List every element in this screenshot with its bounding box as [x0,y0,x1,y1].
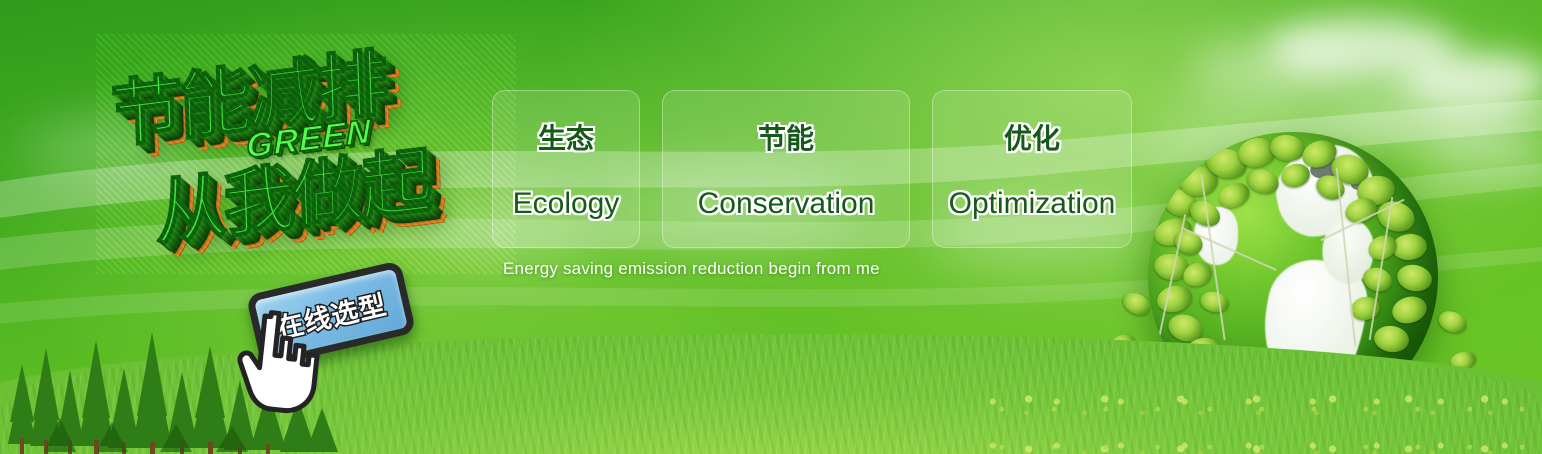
feature-card-ecology[interactable]: 生态 Ecology [492,90,640,248]
cloud-icon [1190,42,1350,96]
tagline-text: Energy saving emission reduction begin f… [503,259,880,279]
leaf-litter [980,384,1542,454]
green-energy-banner: 节能减排 GREEN 从我做起 生态 Ecology 节能 Conservati… [0,0,1542,454]
feature-card-optimization[interactable]: 优化 Optimization [932,90,1132,248]
feature-card-en-label: Ecology [513,187,620,221]
cloud-icon [1420,128,1542,176]
feature-card-cn-label: 节能 [758,117,814,157]
feature-card-group: 生态 Ecology 节能 Conservation 优化 Optimizati… [492,90,1132,248]
feature-card-cn-label: 生态 [538,117,594,157]
headline-3d-title: 节能减排 GREEN 从我做起 [96,34,516,274]
feature-card-cn-label: 优化 [1004,117,1060,157]
feature-card-en-label: Optimization [949,187,1116,221]
feature-card-en-label: Conservation [698,187,875,221]
hand-pointer-cursor-icon [231,305,334,423]
feature-card-conservation[interactable]: 节能 Conservation [662,90,910,248]
